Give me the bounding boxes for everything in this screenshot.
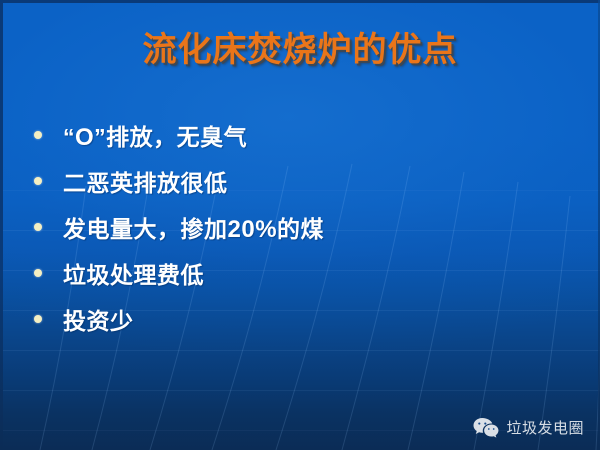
bullet-text-pre: 垃圾处理费低 [63,262,204,288]
bullet-marker-icon [34,131,42,139]
bullet-marker-icon [34,223,42,231]
bullet-text: 二恶英排放很低 [63,164,228,198]
bullet-text: 发电量大，掺加20%的煤 [63,210,324,244]
watermark-label: 垃圾发电圈 [506,417,584,438]
slide-title: 流化床焚烧炉的优点 [0,22,600,71]
presentation-slide: 流化床焚烧炉的优点 “O”排放，无臭气 二恶英排放很低 发电量大，掺加20%的煤… [0,0,600,450]
bullet-text-latin: 20% [228,216,278,243]
bullet-text-post: ”排放，无臭气 [94,124,247,150]
list-item: 发电量大，掺加20%的煤 [34,204,554,250]
list-item: 垃圾处理费低 [34,250,554,296]
bullet-text-pre: 二恶英排放很低 [63,170,228,196]
bullet-text: 垃圾处理费低 [63,256,204,290]
bullet-text-pre: 投资少 [63,308,134,334]
bullet-marker-icon [34,177,42,185]
bullet-text-pre: “ [63,124,75,150]
list-item: 二恶英排放很低 [34,158,554,204]
slide-top-border [0,0,600,3]
bullet-text: “O”排放，无臭气 [63,118,247,152]
bullet-text: 投资少 [63,302,134,336]
bullet-marker-icon [34,269,42,277]
bullet-text-latin: O [75,124,94,151]
bullet-text-pre: 发电量大，掺加 [63,216,228,242]
wechat-icon [473,417,499,438]
bullet-list: “O”排放，无臭气 二恶英排放很低 发电量大，掺加20%的煤 垃圾处理费低 投资… [34,112,554,342]
list-item: 投资少 [34,296,554,342]
bullet-marker-icon [34,315,42,323]
bullet-text-post: 的煤 [277,216,324,242]
list-item: “O”排放，无臭气 [34,112,554,158]
watermark: 垃圾发电圈 [473,417,584,438]
